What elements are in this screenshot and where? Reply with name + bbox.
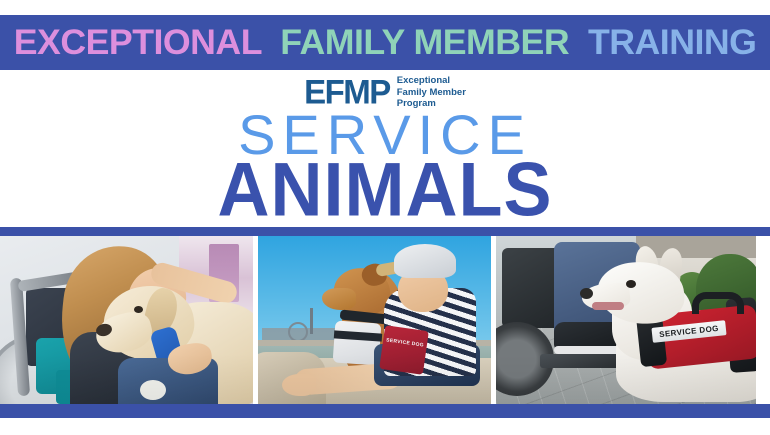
banner-word-training: TRAINING (588, 23, 756, 62)
photo-vignette (258, 236, 491, 404)
photo-vignette (496, 236, 756, 404)
photo-woman-in-wheelchair-with-golden-retriever (0, 236, 253, 404)
banner-word-family-member: FAMILY MEMBER (280, 23, 569, 62)
divider-bar-bottom (0, 404, 770, 418)
headline-animals: ANIMALS (0, 152, 770, 228)
service-animals-poster: EXCEPTIONAL FAMILY MEMBER TRAINING EFMP … (0, 0, 770, 435)
efmp-subtitle-line1: Exceptional (397, 75, 466, 87)
photo-boy-with-service-dog-at-waterfront: SERVICE DOG (258, 236, 491, 404)
banner-word-exceptional: EXCEPTIONAL (14, 23, 262, 62)
photo-vignette (0, 236, 253, 404)
photo-white-shepherd-service-dog-beside-wheelchair: SERVICE DOG (496, 236, 756, 404)
top-banner: EXCEPTIONAL FAMILY MEMBER TRAINING (0, 15, 770, 70)
photo-strip: SERVICE DOG (0, 236, 770, 404)
efmp-subtitle-line2: Family Member (397, 87, 466, 99)
banner-title: EXCEPTIONAL FAMILY MEMBER TRAINING (14, 25, 757, 60)
divider-bar-top (0, 227, 770, 236)
